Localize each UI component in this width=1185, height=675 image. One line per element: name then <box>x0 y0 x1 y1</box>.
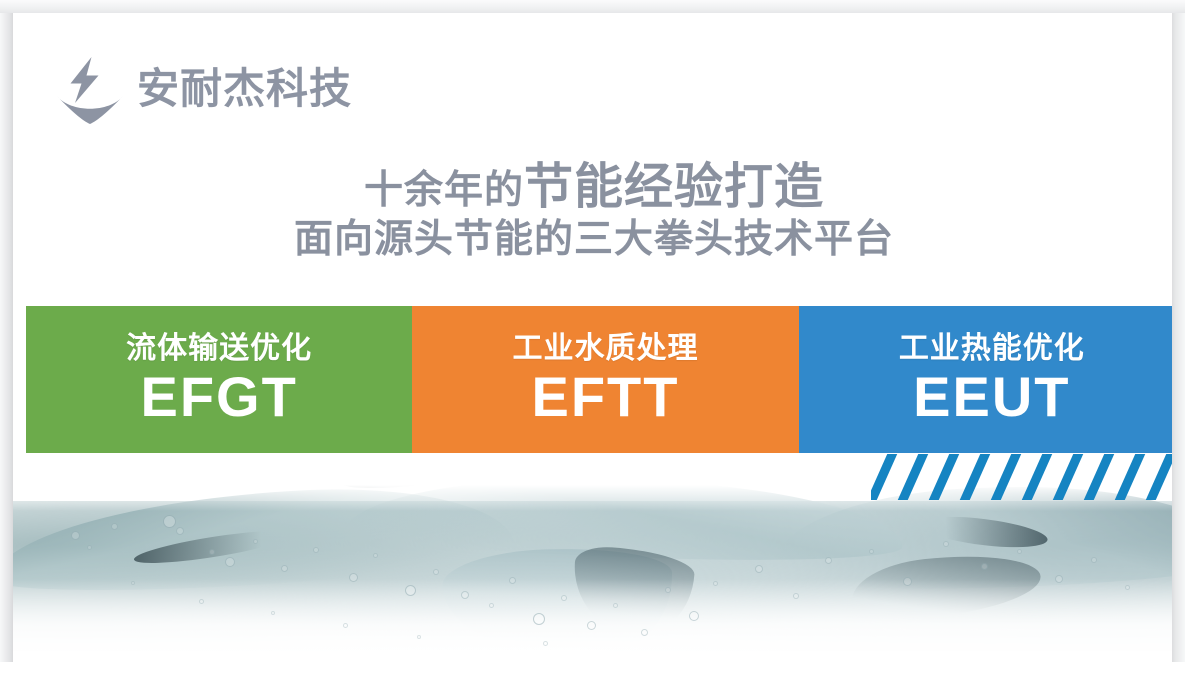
platform-panel-eeut[interactable]: 工业热能优化 EEUT <box>799 306 1172 453</box>
platform-name-eftt: 工业水质处理 <box>512 332 698 367</box>
water-bubble <box>1091 557 1097 563</box>
water-bubble <box>225 557 235 567</box>
water-bubble <box>543 641 548 646</box>
water-bubble <box>943 541 949 547</box>
water-bubble <box>111 523 118 530</box>
diagonal-stripe <box>956 454 994 500</box>
platform-code-eeut: EEUT <box>913 368 1070 427</box>
water-bubble <box>713 581 718 586</box>
water-bubble <box>253 539 258 544</box>
water-bubble <box>343 623 348 628</box>
water-bubble <box>373 553 378 558</box>
platform-name-efgt: 流体输送优化 <box>126 332 312 367</box>
water-bubble <box>163 515 176 528</box>
water-bubble <box>433 569 439 575</box>
slide-edge-top <box>0 0 1185 13</box>
diagonal-stripe <box>894 454 932 500</box>
diagonal-stripe <box>871 454 901 500</box>
water-bubble <box>689 611 699 621</box>
water-bubble <box>793 593 799 599</box>
water-bubble <box>199 599 204 604</box>
water-bubble <box>417 635 421 639</box>
water-bubble <box>641 629 648 636</box>
diagonal-stripe <box>1080 454 1118 500</box>
diagonal-stripe <box>1111 454 1149 500</box>
diagonal-stripe <box>925 454 963 500</box>
water-bubble <box>271 611 275 615</box>
headline-line-1-small: 十余年的 <box>364 169 524 212</box>
platform-panel-efgt[interactable]: 流体输送优化 EFGT <box>26 306 412 453</box>
water-bubble <box>587 621 596 630</box>
diagonal-stripe <box>1018 454 1056 500</box>
water-bubble <box>613 603 618 608</box>
headline-block: 十余年的节能经验打造 面向源头节能的三大拳头技术平台 <box>13 161 1172 267</box>
headline-line-1: 十余年的节能经验打造 <box>13 161 1172 214</box>
water-bubble <box>131 581 135 585</box>
slide-edge-bottom <box>0 662 1185 675</box>
diagonal-stripe <box>987 454 1025 500</box>
water-bubble <box>71 531 80 540</box>
water-bubble <box>1055 575 1063 583</box>
water-bubble <box>281 565 288 572</box>
water-bubble <box>209 549 215 555</box>
water-bubble <box>825 557 832 564</box>
platform-name-eeut: 工业热能优化 <box>899 332 1085 367</box>
water-bubble <box>533 613 545 625</box>
brand-name-text: 安耐杰科技 <box>137 68 352 110</box>
slide-edge-left <box>0 0 13 675</box>
platform-panels: 流体输送优化 EFGT 工业水质处理 EFTT 工业热能优化 EEUT <box>26 306 1172 453</box>
lightning-bolt-logo-icon <box>53 53 127 125</box>
water-bubble <box>313 547 319 553</box>
water-bubble <box>665 587 671 593</box>
water-bubble <box>1125 585 1130 590</box>
water-bubble <box>489 603 494 608</box>
water-bubble <box>561 595 567 601</box>
water-bubble <box>903 577 912 586</box>
headline-line-2: 面向源头节能的三大拳头技术平台 <box>13 214 1172 267</box>
water-bubble <box>87 545 92 550</box>
headline-line-1-large: 节能经验打造 <box>524 160 824 214</box>
water-bubble <box>405 585 416 596</box>
water-bubble <box>755 565 763 573</box>
platform-code-eftt: EFTT <box>532 368 680 427</box>
diagonal-stripe <box>1142 454 1172 500</box>
slide-canvas: 安耐杰科技 十余年的节能经验打造 面向源头节能的三大拳头技术平台 流体输送优化 … <box>13 13 1172 662</box>
water-bubble <box>509 577 516 584</box>
water-bubble <box>1017 549 1022 554</box>
water-bubble <box>981 563 988 570</box>
water-bubble <box>176 527 184 535</box>
diagonal-stripe <box>1049 454 1087 500</box>
water-bubble <box>349 573 358 582</box>
brand-logo: 安耐杰科技 <box>53 53 352 125</box>
slide-root: 安耐杰科技 十余年的节能经验打造 面向源头节能的三大拳头技术平台 流体输送优化 … <box>0 0 1185 675</box>
water-bubble <box>869 549 874 554</box>
diagonal-stripes <box>871 454 1172 500</box>
platform-panel-eftt[interactable]: 工业水质处理 EFTT <box>412 306 798 453</box>
slide-edge-right <box>1172 0 1185 675</box>
platform-code-efgt: EFGT <box>141 368 298 427</box>
water-bubble <box>461 591 469 599</box>
